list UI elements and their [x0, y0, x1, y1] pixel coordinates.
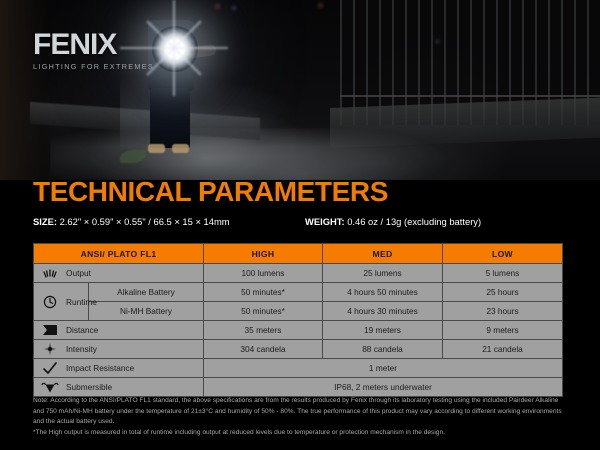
- impact-resistance-icon: [40, 361, 60, 375]
- bokeh-light-4: [436, 40, 439, 43]
- cell-runtime-nimh-low: 23 hours: [443, 302, 563, 321]
- cell-runtime-alkaline-low: 25 hours: [443, 283, 563, 302]
- technical-parameters-table: ANSI/ PLATO FL1 HIGH MED LOW: [33, 243, 563, 397]
- header-low: LOW: [443, 244, 563, 264]
- cell-distance-med: 19 meters: [323, 321, 443, 340]
- bokeh-light-1: [215, 4, 220, 9]
- table-row: Submersible IP68, 2 meters underwater: [34, 378, 563, 397]
- row-label-submersible: Submersible: [34, 378, 204, 397]
- logo-tagline: LIGHTING FOR EXTREMES: [33, 62, 154, 71]
- row-label-text: Impact Resistance: [66, 363, 134, 373]
- weight-value: 0.46 oz / 13g (excluding battery): [347, 216, 481, 227]
- row-label-output: Output: [34, 264, 204, 283]
- cell-output-med: 25 lumens: [323, 264, 443, 283]
- footnote-high-output: *The High output is measured in total of…: [33, 428, 569, 439]
- size-spec: SIZE: 2.62" × 0.59" × 0.55" / 66.5 × 15 …: [33, 216, 230, 227]
- table-row: Distance 35 meters 19 meters 9 meters: [34, 321, 563, 340]
- cell-distance-high: 35 meters: [204, 321, 323, 340]
- table-row: Ni-MH Battery 50 minutes* 4 hours 30 min…: [34, 302, 563, 321]
- weight-label: WEIGHT:: [305, 216, 345, 227]
- weight-spec: WEIGHT: 0.46 oz / 13g (excluding battery…: [305, 216, 481, 227]
- header-med: MED: [323, 244, 443, 264]
- sublabel-nimh-battery: Ni-MH Battery: [89, 302, 204, 321]
- beam-distance-icon: [40, 323, 60, 337]
- table-header-row: ANSI/ PLATO FL1 HIGH MED LOW: [34, 244, 563, 264]
- bokeh-light-3: [318, 3, 323, 8]
- logo-wordmark: FENIX: [33, 30, 154, 60]
- size-label: SIZE:: [33, 216, 57, 227]
- cell-runtime-alkaline-med: 4 hours 50 minutes: [323, 283, 443, 302]
- person-shoe-right: [172, 144, 189, 153]
- table-row: Impact Resistance 1 meter: [34, 359, 563, 378]
- intensity-icon: [40, 342, 60, 356]
- header-ansi-plato: ANSI/ PLATO FL1: [34, 244, 204, 264]
- cell-runtime-alkaline-high: 50 minutes*: [204, 283, 323, 302]
- cell-impact-resistance-value: 1 meter: [204, 359, 563, 378]
- person-shoe-left: [148, 144, 165, 153]
- person-legs: [150, 88, 190, 148]
- hero-photo: [0, 0, 600, 180]
- row-label-runtime: Runtime: [34, 283, 89, 321]
- row-label-intensity: Intensity: [34, 340, 204, 359]
- cell-runtime-nimh-high: 50 minutes*: [204, 302, 323, 321]
- row-label-impact-resistance: Impact Resistance: [34, 359, 204, 378]
- table-row: Output 100 lumens 25 lumens 5 lumens: [34, 264, 563, 283]
- size-value: 2.62" × 0.59" × 0.55" / 66.5 × 15 × 14mm: [60, 216, 230, 227]
- sublabel-alkaline-battery: Alkaline Battery: [89, 283, 204, 302]
- fenix-logo: FENIX LIGHTING FOR EXTREMES: [33, 30, 154, 71]
- cell-intensity-high: 304 candela: [204, 340, 323, 359]
- footnotes: Note: According to the ANSI/PLATO FL1 st…: [33, 396, 569, 439]
- row-label-text: Output: [66, 268, 91, 278]
- light-output-icon: [40, 266, 60, 280]
- cell-output-high: 100 lumens: [204, 264, 323, 283]
- cell-distance-low: 9 meters: [443, 321, 563, 340]
- row-label-text: Intensity: [66, 344, 97, 354]
- submersible-icon: [40, 380, 60, 394]
- cell-submersible-value: IP68, 2 meters underwater: [204, 378, 563, 397]
- row-label-text: Distance: [66, 325, 98, 335]
- page-title: TECHNICAL PARAMETERS: [33, 178, 388, 206]
- cell-intensity-med: 88 candela: [323, 340, 443, 359]
- size-weight-line: SIZE: 2.62" × 0.59" × 0.55" / 66.5 × 15 …: [33, 216, 567, 227]
- cell-runtime-nimh-med: 4 hours 30 minutes: [323, 302, 443, 321]
- table-row: Intensity 304 candela 88 candela 21 cand…: [34, 340, 563, 359]
- cell-output-low: 5 lumens: [443, 264, 563, 283]
- row-label-text: Submersible: [66, 382, 112, 392]
- bokeh-light-2: [232, 6, 236, 10]
- footnote-standard: Note: According to the ANSI/PLATO FL1 st…: [33, 396, 569, 428]
- clock-icon: [40, 295, 60, 309]
- header-high: HIGH: [204, 244, 323, 264]
- table-row: Runtime Alkaline Battery 50 minutes* 4 h…: [34, 283, 563, 302]
- cell-intensity-low: 21 candela: [443, 340, 563, 359]
- row-label-distance: Distance: [34, 321, 204, 340]
- row-label-text: Runtime: [66, 297, 97, 307]
